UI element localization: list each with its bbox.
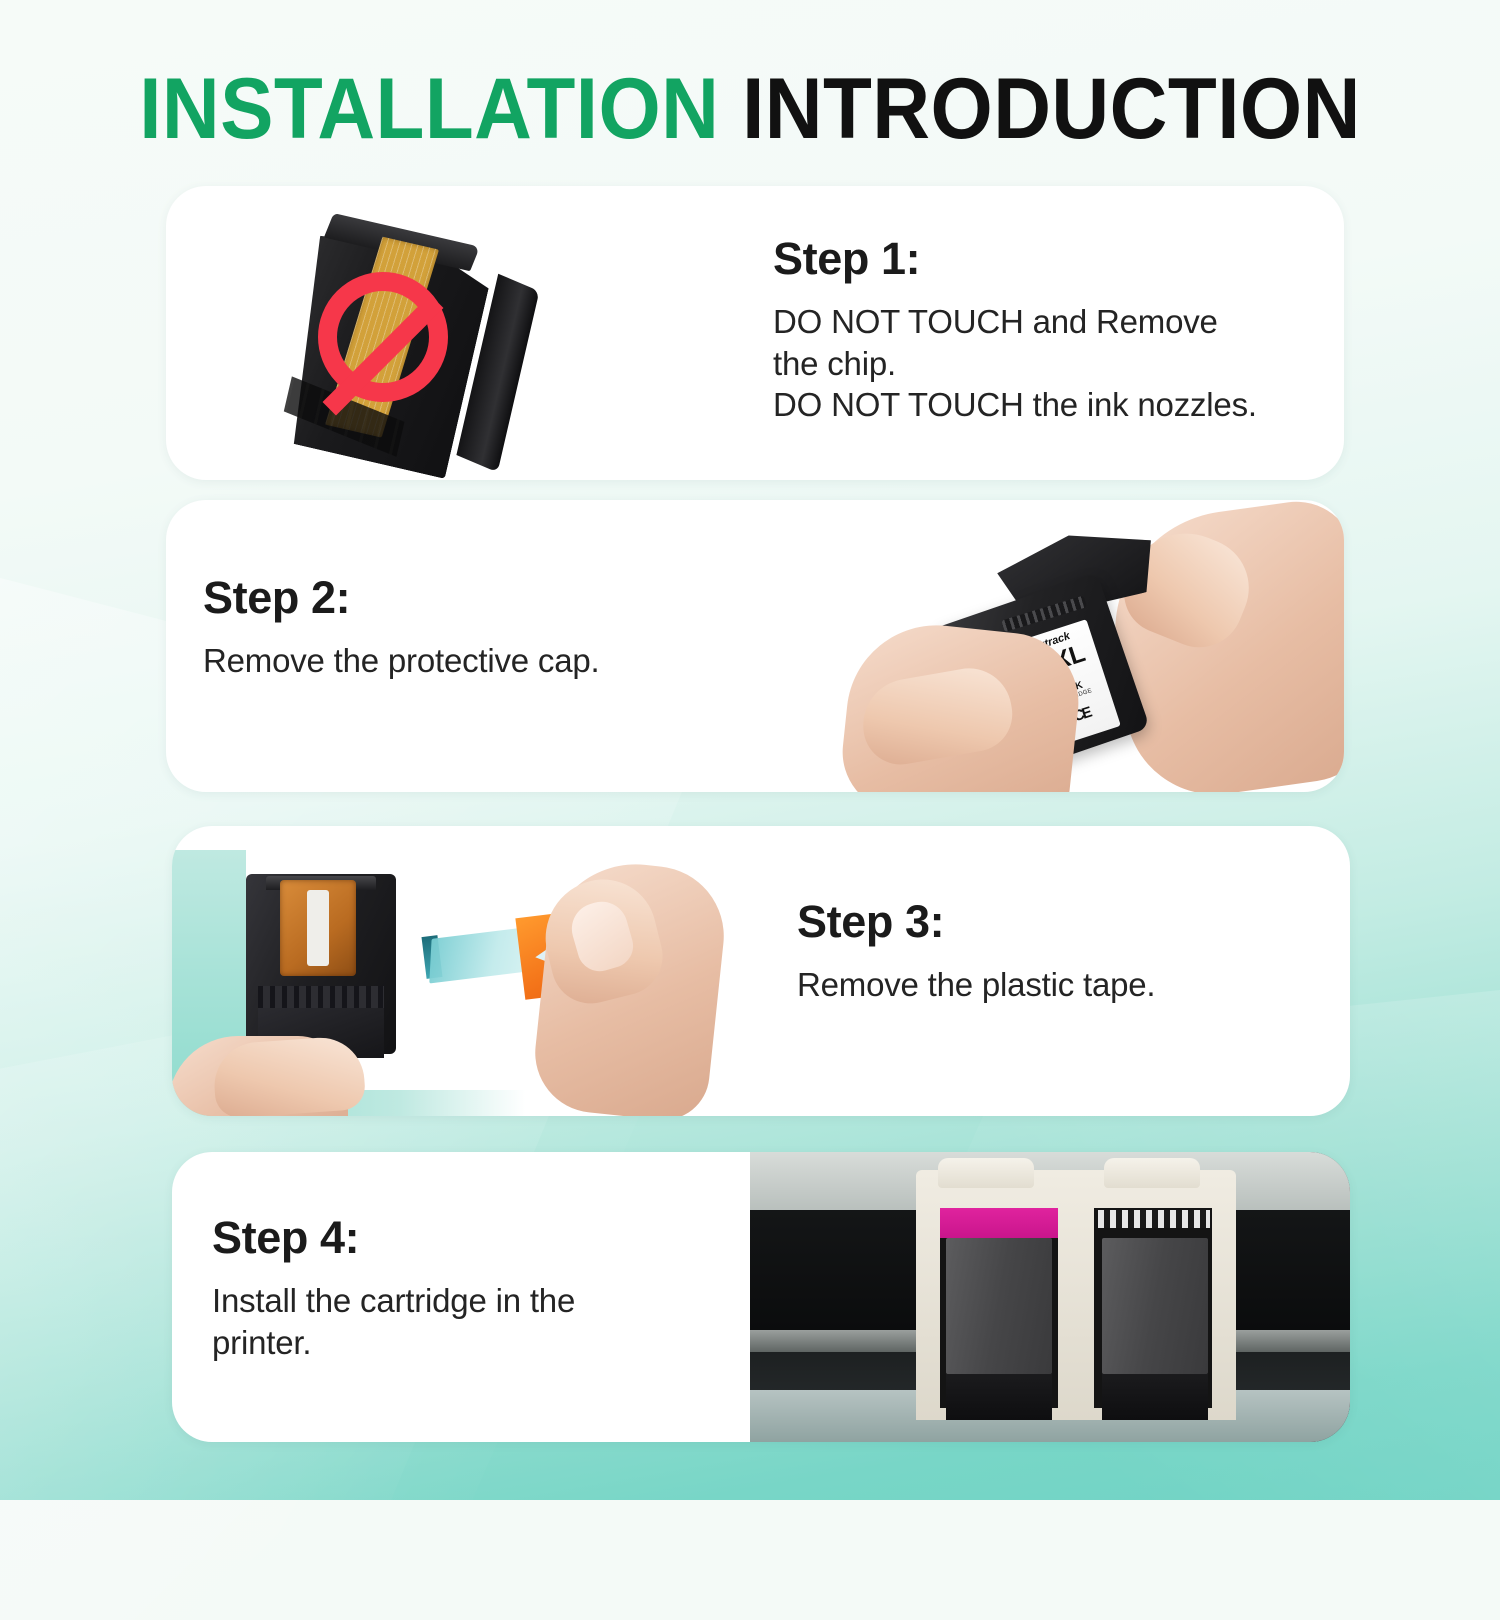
step-4-body: Install the cartridge in the printer.	[212, 1280, 575, 1363]
printer-carriage-icon	[916, 1170, 1236, 1420]
step-1-heading: Step 1:	[773, 233, 1257, 285]
step-1-body-line-2: the chip.	[773, 343, 1257, 385]
step-3-heading: Step 3:	[797, 896, 1155, 948]
step-2-body: Remove the protective cap.	[203, 640, 600, 682]
step-3-body-line-1: Remove the plastic tape.	[797, 964, 1155, 1006]
cartridge-foot-right	[1102, 1374, 1208, 1420]
page-title: INSTALLATION INTRODUCTION	[53, 66, 1448, 152]
step-4-body-line-1: Install the cartridge in the	[212, 1280, 575, 1322]
step-4-heading: Step 4:	[212, 1212, 575, 1264]
cartridge-contact-pins	[258, 986, 384, 1008]
step-1-image	[212, 210, 632, 480]
tricolor-cartridge-cap-icon	[940, 1208, 1058, 1238]
page-title-black: INTRODUCTION	[742, 61, 1361, 157]
carriage-latch-left	[938, 1158, 1034, 1188]
step-card-4: Step 4: Install the cartridge in the pri…	[172, 1152, 1350, 1442]
step-4-text: Step 4: Install the cartridge in the pri…	[212, 1212, 575, 1363]
step-card-2: Step 2: Remove the protective cap. Inktr…	[166, 500, 1344, 792]
step-1-body-line-3: DO NOT TOUCH the ink nozzles.	[773, 384, 1257, 426]
step-2-text: Step 2: Remove the protective cap.	[203, 572, 600, 682]
cartridge-foot-left	[946, 1374, 1052, 1420]
step-card-3: PULL Step 3: Remove the plastic tape.	[172, 826, 1350, 1116]
step-2-body-line-1: Remove the protective cap.	[203, 640, 600, 682]
step-3-text: Step 3: Remove the plastic tape.	[797, 896, 1155, 1006]
carriage-latch-right	[1104, 1158, 1200, 1188]
black-cartridge-contacts	[1098, 1210, 1210, 1228]
step-2-image: Inktrack 64XL BLACK INK CARTRIDGE ☣ CE	[838, 500, 1344, 792]
nozzle-plate-icon	[280, 880, 356, 976]
step-1-body-line-1: DO NOT TOUCH and Remove	[773, 301, 1257, 343]
step-1-body: DO NOT TOUCH and Remove the chip. DO NOT…	[773, 301, 1257, 426]
step-card-1: Step 1: DO NOT TOUCH and Remove the chip…	[166, 186, 1344, 480]
tricolor-cartridge-icon	[946, 1238, 1052, 1374]
no-entry-icon	[318, 272, 448, 402]
step-4-image	[750, 1152, 1350, 1442]
ink-cartridge-icon	[246, 874, 396, 1054]
step-4-body-line-2: printer.	[212, 1322, 575, 1364]
page-title-green: INSTALLATION	[139, 61, 719, 157]
black-cartridge-icon	[1102, 1238, 1208, 1374]
step-1-text: Step 1: DO NOT TOUCH and Remove the chip…	[773, 233, 1257, 426]
step-3-image: PULL	[172, 850, 742, 1116]
step-3-body: Remove the plastic tape.	[797, 964, 1155, 1006]
nozzle-window	[307, 890, 329, 966]
step-2-heading: Step 2:	[203, 572, 600, 624]
